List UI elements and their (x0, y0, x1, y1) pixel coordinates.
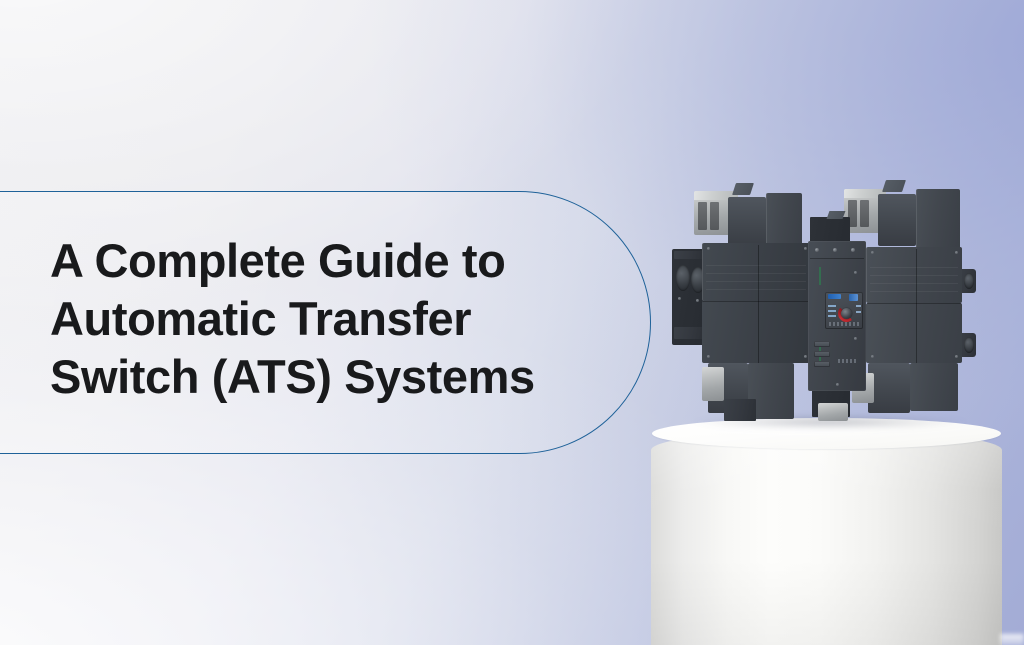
status-led-green-upper (819, 267, 821, 285)
housing-seam-right-vertical (916, 249, 917, 363)
right-side-knob-lower (964, 337, 974, 353)
housing-seam-left-horizontal (703, 301, 811, 302)
housing-seam-right-horizontal (867, 303, 961, 304)
control-terminal-strip-1 (814, 341, 830, 347)
faceplate-rating-text (829, 322, 859, 326)
control-module (808, 241, 866, 391)
terminal-slot-right-2 (860, 200, 869, 227)
housing-fin-l3 (706, 281, 806, 282)
brand-label (828, 294, 841, 299)
terminal-slot-left-2 (710, 202, 719, 230)
podium-right-edge-glow (1000, 634, 1024, 645)
terminal-tab-right-rear (882, 180, 906, 192)
position-marks-left (828, 305, 836, 319)
terminal-block-left-bottom (702, 367, 724, 401)
housing-fin-r4 (870, 291, 958, 292)
product-image-automatic-transfer-switch (672, 177, 984, 429)
left-frame-screw-1 (678, 297, 681, 300)
housing-fin-l4 (706, 289, 806, 290)
housing-seam-left-vertical (758, 245, 759, 363)
housing-screw-r1 (871, 251, 874, 254)
control-terminal-strip-3 (814, 361, 830, 367)
control-faceplate (825, 292, 863, 329)
pole-cover-right-bottom-2 (910, 363, 958, 411)
control-terminal-strip-2 (814, 351, 830, 357)
control-module-seam-top (810, 258, 864, 259)
housing-screw-l2 (804, 247, 807, 250)
housing-screw-l3 (707, 355, 710, 358)
housing-screw-l4 (804, 355, 807, 358)
podium-shading (651, 431, 1002, 645)
housing-fin-l1 (706, 265, 806, 266)
main-housing-left-lower (702, 301, 812, 363)
side-connector-knob-1 (676, 265, 690, 291)
hero-banner: A Complete Guide to Automatic Transfer S… (0, 0, 1024, 645)
control-module-model-text (838, 359, 858, 363)
control-module-screw-3 (836, 383, 839, 386)
pole-cover-left-top-1 (728, 197, 766, 249)
terminal-slot-left-1 (698, 202, 707, 230)
left-frame-rib-top (674, 251, 704, 259)
left-frame-screw-2 (696, 299, 699, 302)
center-bottom-terminal (818, 403, 848, 421)
terminal-tab-left-rear (732, 183, 754, 195)
page-title: A Complete Guide to Automatic Transfer S… (50, 232, 590, 406)
housing-screw-r2 (955, 251, 958, 254)
control-module-screw-2 (854, 337, 857, 340)
pole-cover-right-top-2 (916, 189, 960, 249)
housing-fin-r1 (870, 267, 958, 268)
rotary-selector-dial[interactable] (841, 308, 852, 319)
indicator-dot-2 (833, 248, 837, 252)
left-foot (724, 399, 756, 421)
housing-fin-r2 (870, 275, 958, 276)
position-marks-right (856, 305, 861, 319)
podium-cylinder-body (651, 431, 1002, 645)
indicator-dot-1 (815, 248, 819, 252)
indicator-dot-3 (851, 248, 855, 252)
mode-label (849, 294, 858, 301)
product-podium (651, 418, 1002, 645)
main-housing-right-lower (866, 303, 962, 363)
control-module-screw-1 (854, 271, 857, 274)
left-frame-rib-bottom (674, 327, 704, 339)
housing-fin-r3 (870, 283, 958, 284)
housing-screw-r4 (955, 355, 958, 358)
center-spine-tab (827, 211, 846, 219)
housing-screw-r3 (871, 355, 874, 358)
main-housing-left-upper (702, 243, 812, 301)
housing-screw-l1 (707, 247, 710, 250)
right-side-knob-upper (964, 273, 974, 289)
pole-cover-right-top-1 (878, 194, 916, 246)
housing-fin-l2 (706, 273, 806, 274)
pole-cover-right-bottom-1 (868, 363, 910, 413)
